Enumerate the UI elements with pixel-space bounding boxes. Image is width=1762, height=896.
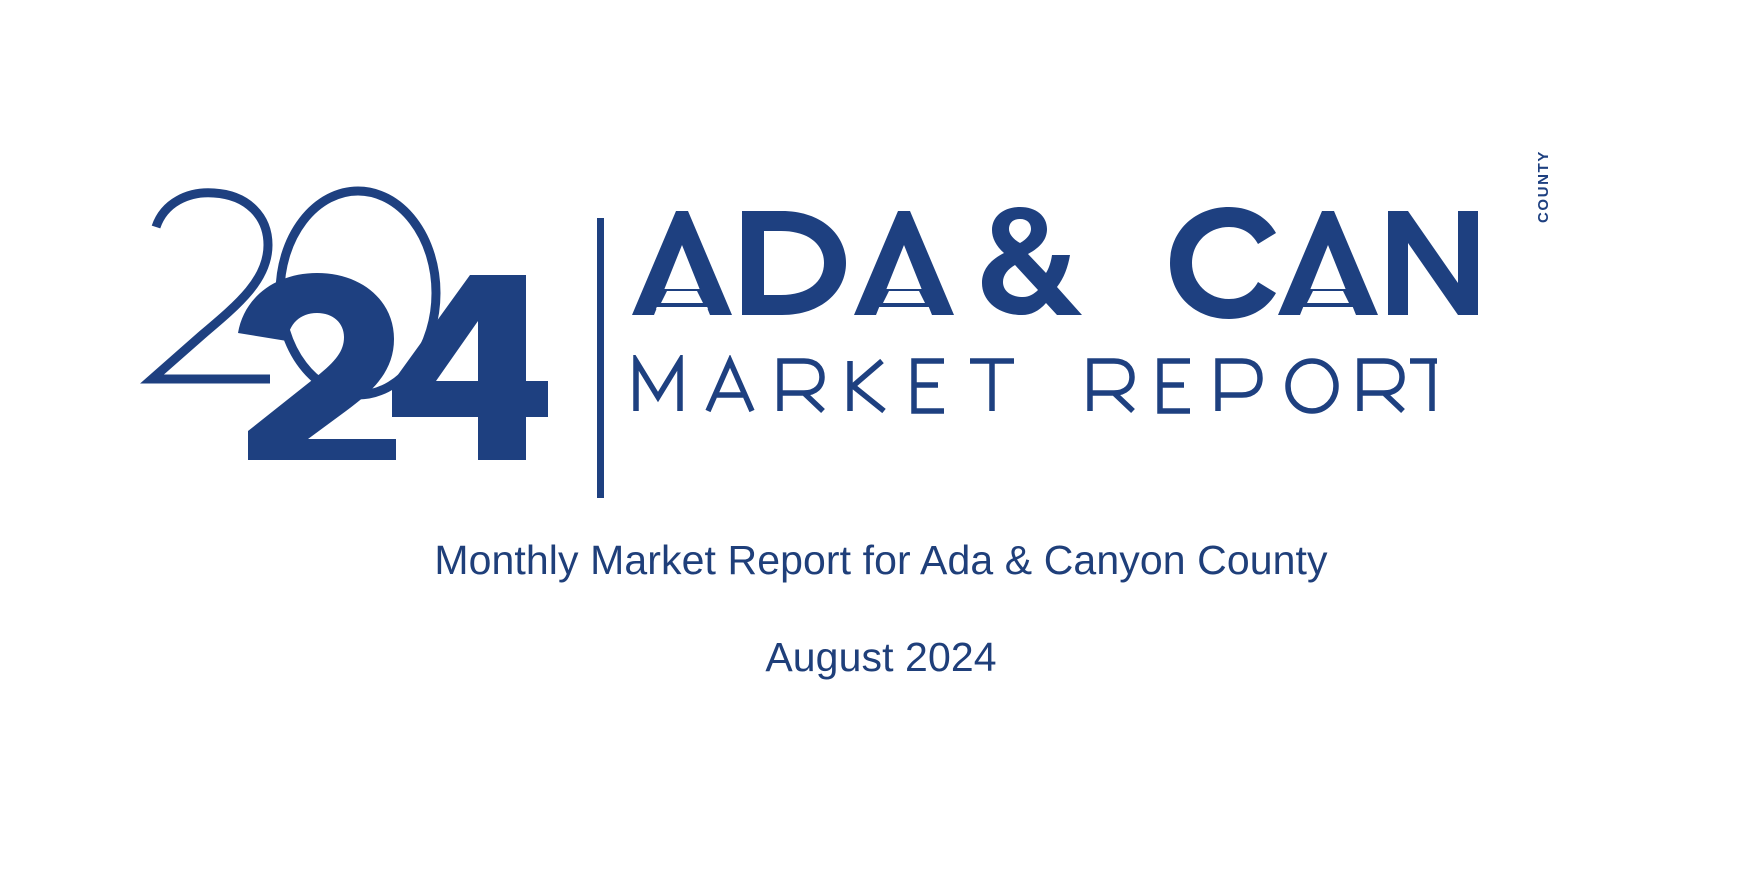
ada-canyon-text-icon	[630, 205, 1490, 325]
logo-divider-rule	[597, 218, 604, 498]
brand-logo-lockup: COUNTY	[0, 0, 1762, 520]
year-2024-icon	[140, 185, 570, 460]
wordmark-line-market-report	[632, 355, 1437, 415]
report-subtitle-text: Monthly Market Report for Ada & Canyon C…	[0, 540, 1762, 581]
report-subtitle-block: Monthly Market Report for Ada & Canyon C…	[0, 540, 1762, 678]
county-superscript-label: COUNTY	[1535, 150, 1552, 223]
brand-wordmark: COUNTY	[630, 205, 1630, 465]
report-cover-slide: COUNTY	[0, 0, 1762, 896]
report-date-text: August 2024	[0, 637, 1762, 678]
market-report-text-icon	[632, 355, 1437, 415]
year-2024-mark	[140, 185, 570, 460]
wordmark-line-ada-canyon	[630, 205, 1490, 325]
